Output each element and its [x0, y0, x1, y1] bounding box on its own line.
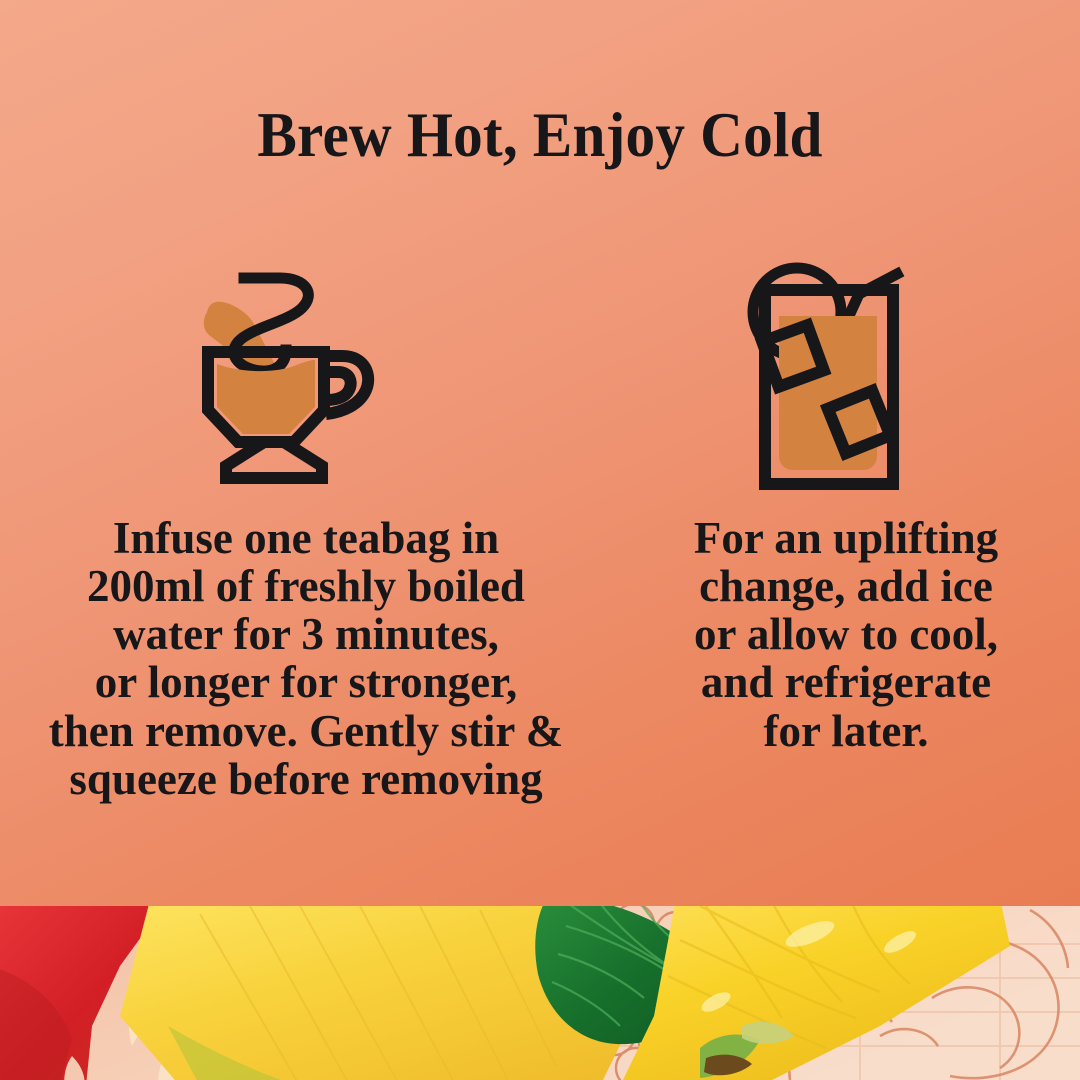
instruction-card-cold-serve: For an uplifting change, add ice or allo…: [612, 250, 1080, 850]
iced-drink-glass-icon: [731, 250, 961, 498]
instruction-line: or allow to cool,: [631, 610, 1061, 658]
instruction-text-hot-brew: Infuse one teabag in 200ml of freshly bo…: [6, 514, 606, 803]
instruction-line: then remove. Gently stir &: [6, 707, 606, 755]
instruction-line: 200ml of freshly boiled: [6, 562, 606, 610]
instruction-line: or longer for stronger,: [6, 658, 606, 706]
instruction-line: For an uplifting: [631, 514, 1061, 562]
cup-liquid: [217, 360, 315, 434]
instruction-line: Infuse one teabag in: [6, 514, 606, 562]
instruction-columns: Infuse one teabag in 200ml of freshly bo…: [0, 250, 1080, 850]
fruit-photo-band: [0, 906, 1080, 1080]
instruction-line: for later.: [631, 707, 1061, 755]
instruction-line: change, add ice: [631, 562, 1061, 610]
cup-handle: [326, 356, 368, 414]
instruction-card-hot-brew: Infuse one teabag in 200ml of freshly bo…: [0, 250, 612, 850]
instructions-panel: Brew Hot, Enjoy Cold: [0, 0, 1080, 906]
teacup-with-steam-icon: [176, 250, 436, 498]
instruction-line: squeeze before removing: [6, 755, 606, 803]
instruction-line: water for 3 minutes,: [6, 610, 606, 658]
instruction-text-cold-serve: For an uplifting change, add ice or allo…: [631, 514, 1061, 755]
poster-root: Brew Hot, Enjoy Cold: [0, 0, 1080, 1080]
page-title: Brew Hot, Enjoy Cold: [32, 104, 1047, 167]
instruction-line: and refrigerate: [631, 658, 1061, 706]
